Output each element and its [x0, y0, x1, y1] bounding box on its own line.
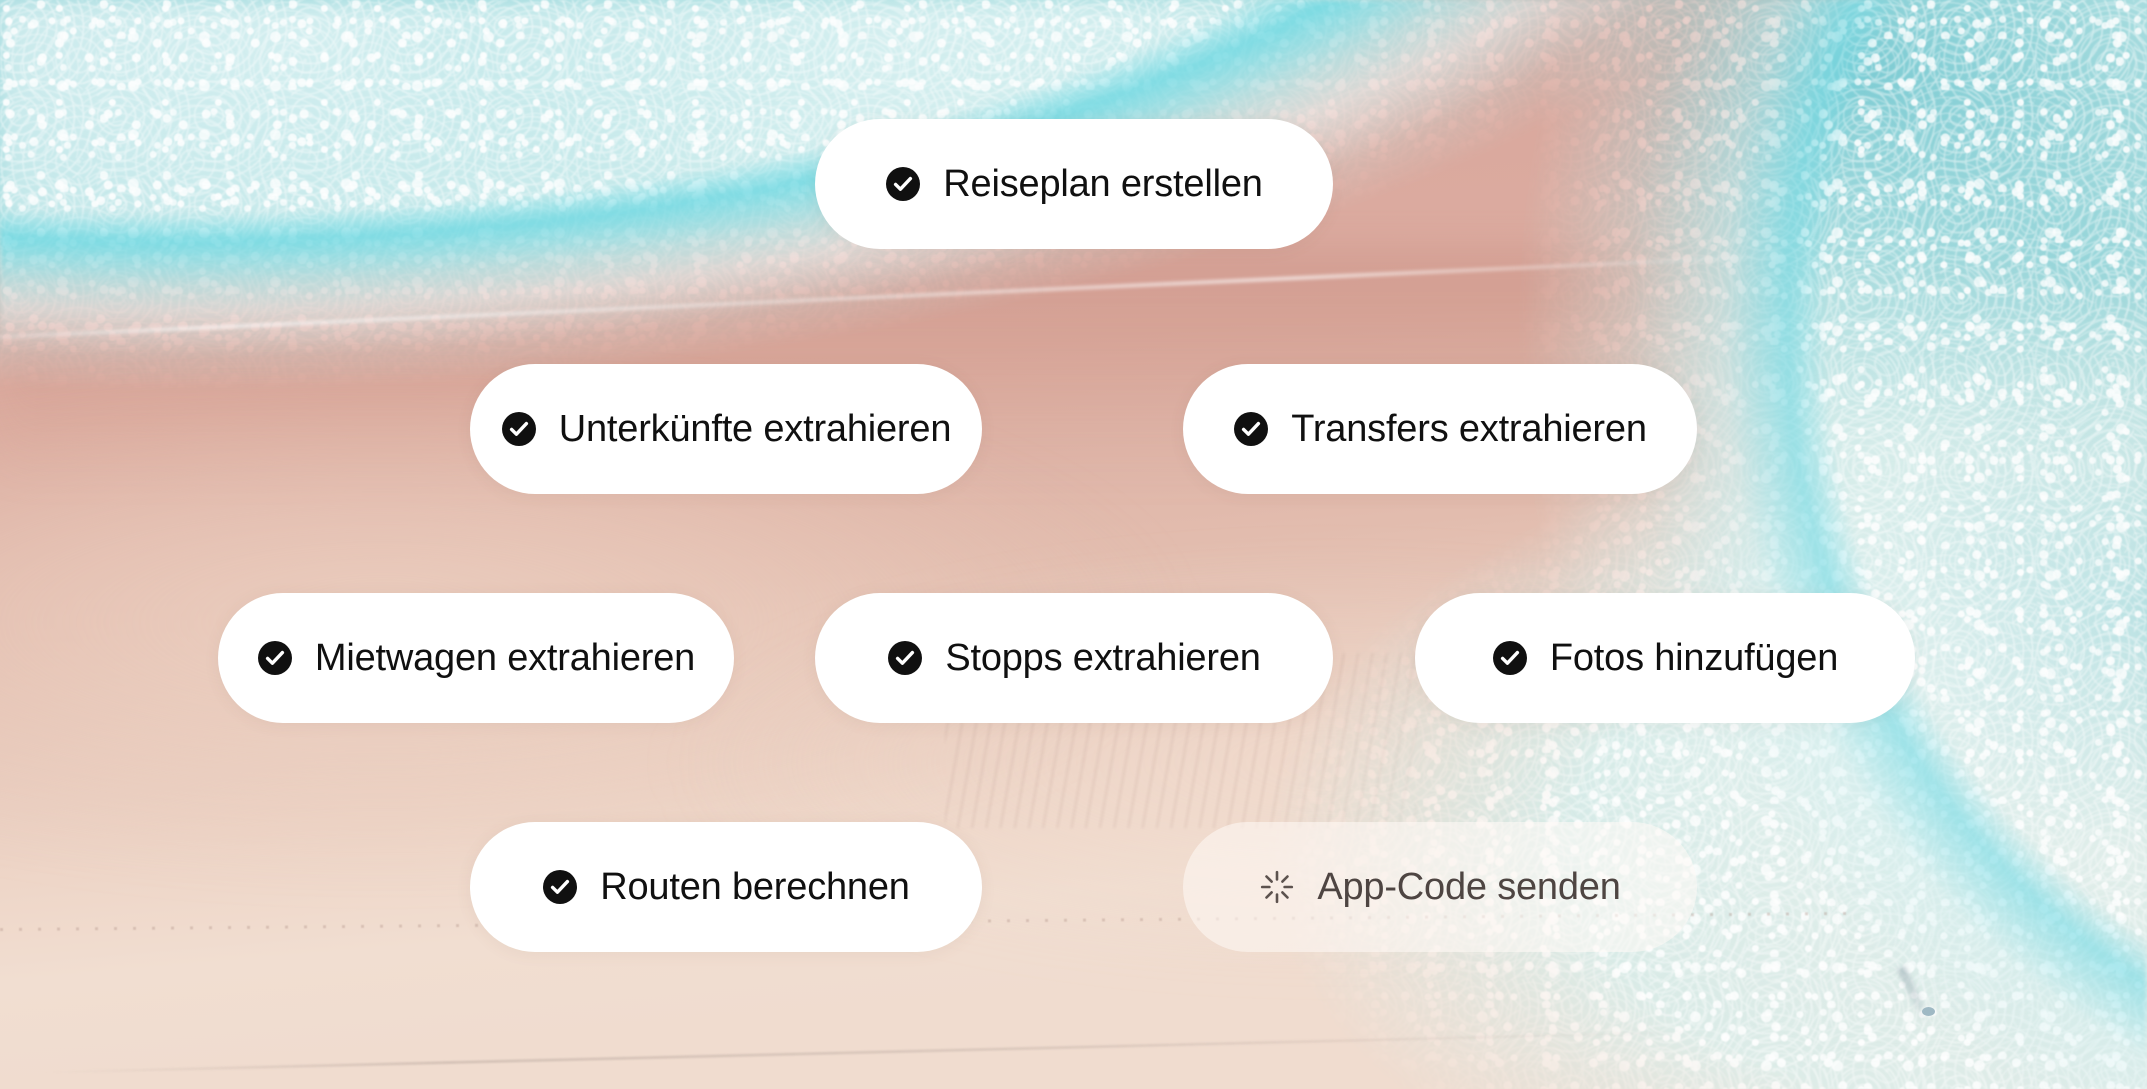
loading-spinner-icon: [1259, 869, 1295, 905]
task-pill-label: Transfers extrahieren: [1291, 410, 1647, 448]
task-pill-stopps-extrahieren[interactable]: Stopps extrahieren: [815, 593, 1333, 723]
task-pill-label: Stopps extrahieren: [945, 639, 1260, 677]
task-pill-app-code-senden[interactable]: App-Code senden: [1183, 822, 1697, 952]
check-circle-icon: [885, 166, 921, 202]
task-pill-unterkuenfte-extrahieren[interactable]: Unterkünfte extrahieren: [470, 364, 982, 494]
task-pill-label: Mietwagen extrahieren: [315, 639, 695, 677]
check-circle-icon: [1233, 411, 1269, 447]
task-pill-label: Routen berechnen: [600, 868, 909, 906]
task-progress-screen: Reiseplan erstellen Unterkünfte extrahie…: [0, 0, 2147, 1089]
check-circle-icon: [257, 640, 293, 676]
check-circle-icon: [1492, 640, 1528, 676]
task-pill-transfers-extrahieren[interactable]: Transfers extrahieren: [1183, 364, 1697, 494]
check-circle-icon: [887, 640, 923, 676]
task-pill-label: App-Code senden: [1317, 868, 1620, 906]
task-pill-reiseplan-erstellen[interactable]: Reiseplan erstellen: [815, 119, 1333, 249]
task-pill-label: Unterkünfte extrahieren: [559, 410, 952, 448]
task-pill-mietwagen-extrahieren[interactable]: Mietwagen extrahieren: [218, 593, 734, 723]
task-pill-fotos-hinzufuegen[interactable]: Fotos hinzufügen: [1415, 593, 1915, 723]
task-pill-label: Reiseplan erstellen: [943, 165, 1262, 203]
task-pill-routen-berechnen[interactable]: Routen berechnen: [470, 822, 982, 952]
check-circle-icon: [501, 411, 537, 447]
task-pill-label: Fotos hinzufügen: [1550, 639, 1838, 677]
check-circle-icon: [542, 869, 578, 905]
task-pill-list: Reiseplan erstellen Unterkünfte extrahie…: [0, 0, 2147, 1089]
